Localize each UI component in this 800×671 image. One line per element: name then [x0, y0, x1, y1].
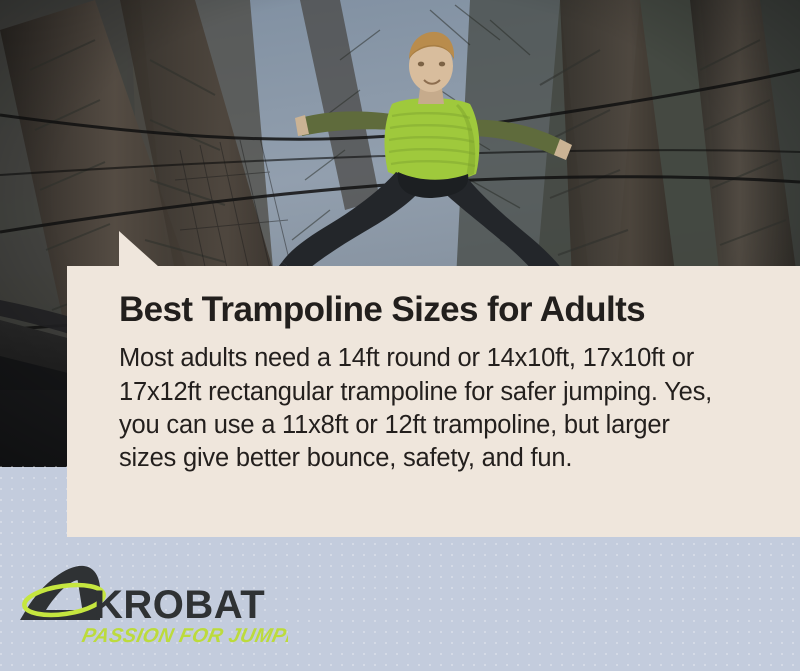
content-card: Best Trampoline Sizes for Adults Most ad… [67, 266, 800, 537]
body-text: Most adults need a 14ft round or 14x10ft… [119, 342, 719, 476]
page-title: Best Trampoline Sizes for Adults [119, 290, 772, 329]
card-corner-tab [119, 231, 159, 267]
brand-logo[interactable]: KROBAT PASSION FOR JUMPING [18, 562, 288, 648]
logo-tagline: PASSION FOR JUMPING [80, 625, 288, 647]
logo-wordmark: KROBAT [94, 583, 265, 627]
card-inner: Best Trampoline Sizes for Adults Most ad… [119, 290, 772, 476]
infographic-canvas: Best Trampoline Sizes for Adults Most ad… [0, 0, 800, 671]
